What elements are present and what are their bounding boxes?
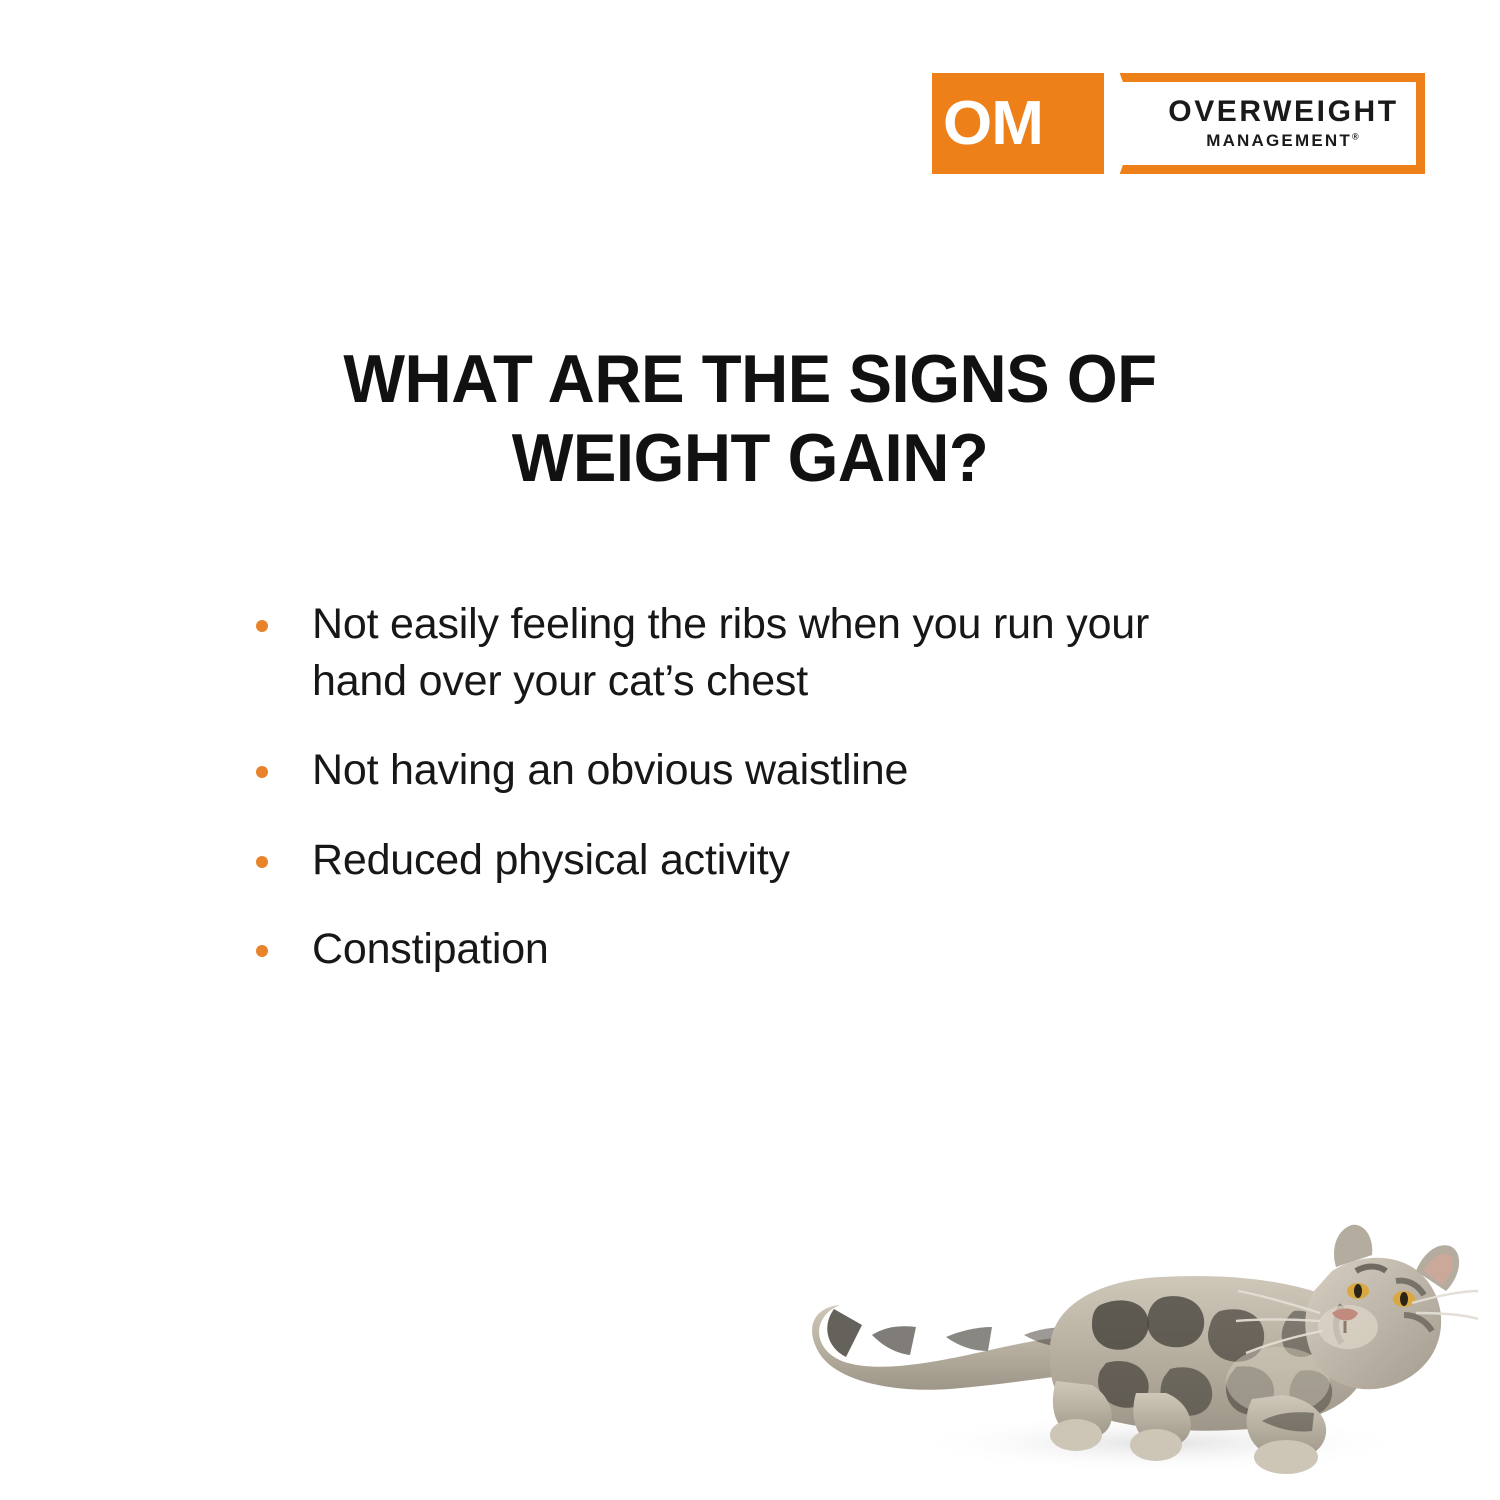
slide: OVERWEIGHT MANAGEMENT® OM WHAT ARE THE S… xyxy=(0,0,1500,1500)
cat-paw xyxy=(1254,1440,1318,1474)
list-item-label: Reduced physical activity xyxy=(312,832,790,889)
overweight-management-logo: OVERWEIGHT MANAGEMENT® OM xyxy=(932,73,1425,174)
logo-word-management: MANAGEMENT® xyxy=(1206,131,1361,151)
cat-pupil xyxy=(1354,1284,1362,1298)
page-title-line-2: WEIGHT GAIN? xyxy=(512,420,989,496)
bullet-dot-icon xyxy=(256,945,268,957)
logo-monogram-block: OM xyxy=(932,73,1104,174)
cat-pupil xyxy=(1400,1292,1408,1306)
cat-marking xyxy=(1147,1296,1204,1347)
page-title: WHAT ARE THE SIGNS OF WEIGHT GAIN? xyxy=(270,340,1230,498)
logo-outline-box: OVERWEIGHT MANAGEMENT® xyxy=(1104,73,1425,174)
list-item: Reduced physical activity xyxy=(256,832,1216,889)
cat-photo xyxy=(800,1185,1480,1485)
bullet-dot-icon xyxy=(256,620,268,632)
logo-monogram-text: OM xyxy=(943,93,1043,155)
logo-word-overweight: OVERWEIGHT xyxy=(1168,96,1398,128)
bullet-dot-icon xyxy=(256,766,268,778)
cat-tail-stripe xyxy=(827,1309,862,1357)
list-item: Constipation xyxy=(256,921,1216,978)
page-title-line-1: WHAT ARE THE SIGNS OF xyxy=(343,341,1156,417)
cat-paw xyxy=(1130,1429,1182,1461)
bullet-dot-icon xyxy=(256,856,268,868)
list-item-label: Not easily feeling the ribs when you run… xyxy=(312,596,1192,710)
cat-tail-stripe xyxy=(946,1327,992,1351)
cat-illustration xyxy=(800,1185,1480,1485)
cat-tail-stripe xyxy=(872,1326,916,1355)
cat-paw xyxy=(1050,1419,1102,1451)
list-item-label: Not having an obvious waistline xyxy=(312,742,908,799)
list-item-label: Constipation xyxy=(312,921,549,978)
registered-trademark-icon: ® xyxy=(1352,131,1361,141)
signs-bullet-list: Not easily feeling the ribs when you run… xyxy=(256,596,1216,1010)
list-item: Not easily feeling the ribs when you run… xyxy=(256,596,1216,710)
list-item: Not having an obvious waistline xyxy=(256,742,1216,799)
logo-management-text: MANAGEMENT xyxy=(1206,131,1352,150)
